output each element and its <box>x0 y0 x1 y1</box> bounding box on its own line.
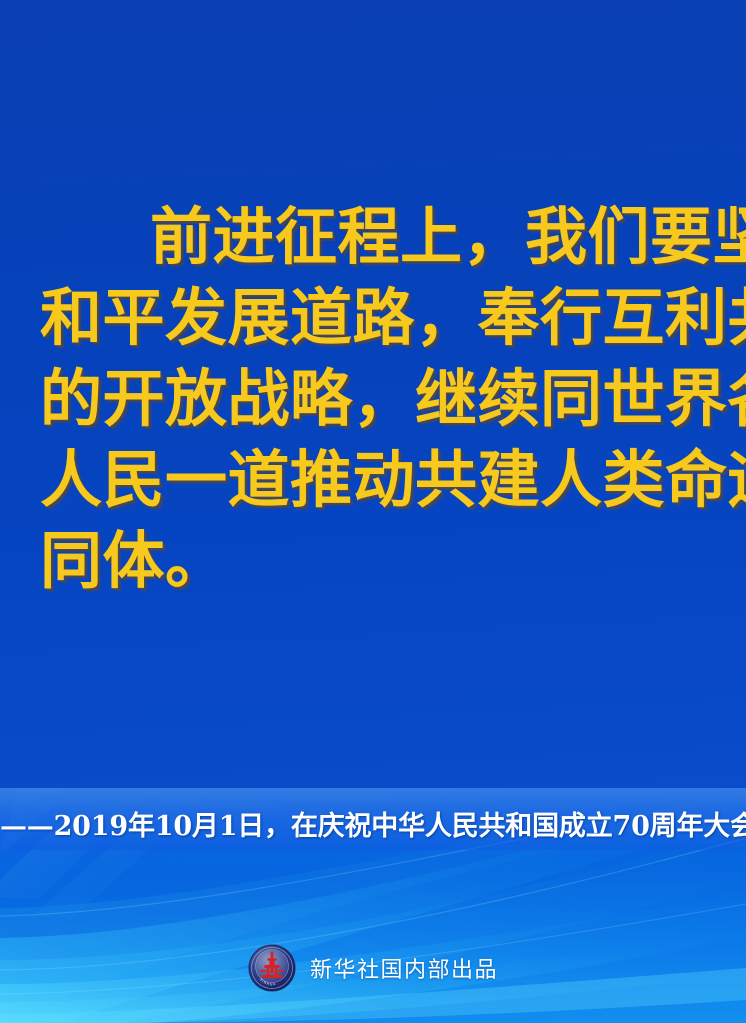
quote-line: 前进征程上，我们要坚持 <box>40 196 712 277</box>
quote-line: 和平发展道路，奉行互利共赢 <box>40 277 712 358</box>
attribution-caption: ——2019年10月1日，在庆祝中华人民共和国成立70周年大会上的讲话 <box>0 810 746 844</box>
footer-producer-text: 新华社国内部出品 <box>310 952 498 984</box>
quote-line: 同体。 <box>40 520 712 601</box>
xinhua-emblem-icon: XINHUA <box>248 944 296 992</box>
footer: XINHUA 新华社国内部出品 <box>0 938 746 998</box>
quote-block: 前进征程上，我们要坚持 和平发展道路，奉行互利共赢 的开放战略，继续同世界各国 … <box>40 196 712 601</box>
quote-line: 的开放战略，继续同世界各国 <box>40 358 712 439</box>
quote-line: 人民一道推动共建人类命运共 <box>40 439 712 520</box>
poster-canvas: 前进征程上，我们要坚持 和平发展道路，奉行互利共赢 的开放战略，继续同世界各国 … <box>0 0 746 1023</box>
